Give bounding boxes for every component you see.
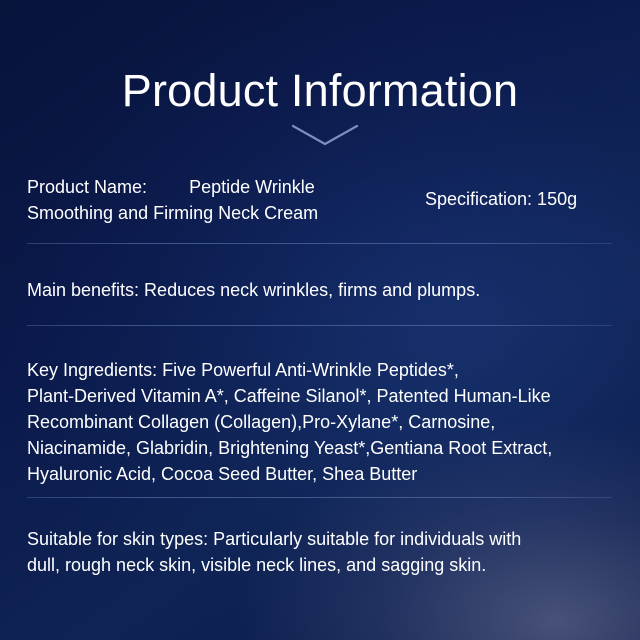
key-ingredients-line: Niacinamide, Glabridin, Brightening Yeas…: [27, 435, 597, 461]
specification-row: Specification: 150g: [425, 186, 625, 212]
suitable-skin-types-line: Suitable for skin types: Particularly su…: [27, 526, 587, 552]
product-name-row: Product Name:Peptide Wrinkle Smoothing a…: [27, 174, 407, 226]
main-benefits-row: Main benefits: Reduces neck wrinkles, fi…: [27, 277, 607, 303]
suitable-skin-types-row: Suitable for skin types: Particularly su…: [27, 526, 587, 578]
product-name-value-line1: Peptide Wrinkle: [189, 177, 315, 197]
page-title: Product Information: [0, 66, 640, 116]
key-ingredients-line: Hyaluronic Acid, Cocoa Seed Butter, Shea…: [27, 461, 597, 487]
product-name-value-line2: Smoothing and Firming Neck Cream: [27, 200, 407, 226]
key-ingredients-row: Key Ingredients: Five Powerful Anti-Wrin…: [27, 357, 597, 487]
suitable-skin-types-line: dull, rough neck skin, visible neck line…: [27, 552, 587, 578]
section-divider: [27, 497, 612, 498]
section-divider: [27, 243, 612, 244]
product-name-label: Product Name:: [27, 177, 147, 197]
chevron-down-icon: [289, 122, 361, 148]
key-ingredients-line: Plant-Derived Vitamin A*, Caffeine Silan…: [27, 383, 597, 409]
key-ingredients-line: Key Ingredients: Five Powerful Anti-Wrin…: [27, 357, 597, 383]
product-information-panel: Product Information Product Name:Peptide…: [0, 0, 640, 640]
key-ingredients-line: Recombinant Collagen (Collagen),Pro-Xyla…: [27, 409, 597, 435]
section-divider: [27, 325, 612, 326]
